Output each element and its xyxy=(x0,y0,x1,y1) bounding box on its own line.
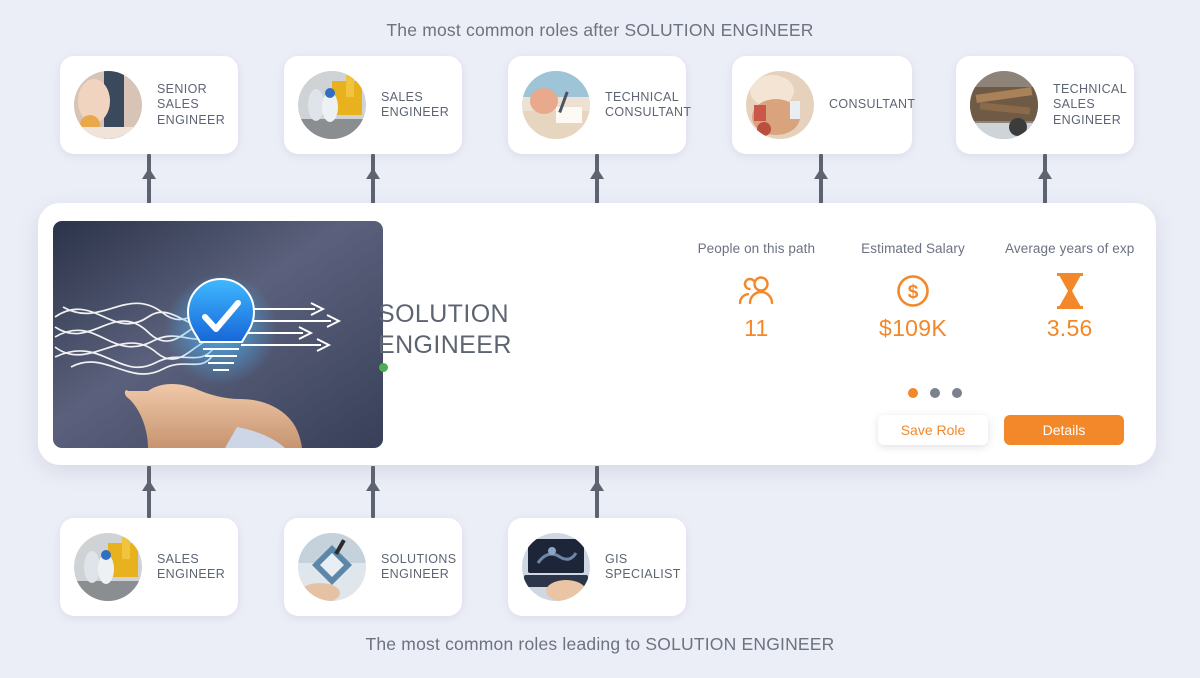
people-icon xyxy=(678,271,835,311)
role-card[interactable]: TECHNICAL CONSULTANT xyxy=(508,56,686,154)
role-card[interactable]: SENIOR SALES ENGINEER xyxy=(60,56,238,154)
role-card-label: SALES ENGINEER xyxy=(381,90,449,121)
role-thumb-technical-consultant xyxy=(522,71,590,139)
stat-3: Average years of exp3.56 xyxy=(991,241,1148,342)
connector-arrow-up xyxy=(142,154,156,206)
current-role-status-dot xyxy=(379,363,388,372)
previous-roles-row: SALES ENGINEERSOLUTIONS ENGINEERGIS SPEC… xyxy=(0,518,1200,616)
role-card-label: TECHNICAL SALES ENGINEER xyxy=(1053,82,1127,129)
connector-arrow-up xyxy=(366,154,380,206)
role-thumb-sales-engineer xyxy=(74,533,142,601)
role-card-label: TECHNICAL CONSULTANT xyxy=(605,90,691,121)
role-thumb-gis-specialist xyxy=(522,533,590,601)
stat-2: Estimated Salary$$109K xyxy=(835,241,992,342)
role-card[interactable]: GIS SPECIALIST xyxy=(508,518,686,616)
connector-arrow-up xyxy=(814,154,828,206)
role-card-label: SENIOR SALES ENGINEER xyxy=(157,82,238,129)
current-role-card[interactable]: SOLUTION ENGINEER People on this path11E… xyxy=(38,203,1156,465)
role-card[interactable]: CONSULTANT xyxy=(732,56,912,154)
save-role-button[interactable]: Save Role xyxy=(878,415,988,445)
stat-label: Average years of exp xyxy=(991,241,1148,256)
stat-label: People on this path xyxy=(678,241,835,256)
role-thumb-technical-sales-engineer xyxy=(970,71,1038,139)
role-thumb-solutions-engineer xyxy=(298,533,366,601)
next-roles-caption: The most common roles after SOLUTION ENG… xyxy=(0,20,1200,41)
stat-value: 3.56 xyxy=(991,315,1148,342)
current-role-actions: Save Role Details xyxy=(878,415,1124,445)
current-role-stats: People on this path11Estimated Salary$$1… xyxy=(678,241,1148,342)
role-card-label: GIS SPECIALIST xyxy=(605,552,681,583)
stat-1: People on this path11 xyxy=(678,241,835,342)
svg-text:$: $ xyxy=(908,282,919,303)
role-thumb-consultant xyxy=(746,71,814,139)
stat-label: Estimated Salary xyxy=(835,241,992,256)
role-card[interactable]: SALES ENGINEER xyxy=(284,56,462,154)
connector-arrow-up xyxy=(366,466,380,518)
connector-arrow-up xyxy=(590,154,604,206)
connector-arrow-up xyxy=(142,466,156,518)
role-card[interactable]: TECHNICAL SALES ENGINEER xyxy=(956,56,1134,154)
role-thumb-sales-engineer xyxy=(298,71,366,139)
next-roles-row: SENIOR SALES ENGINEERSALES ENGINEERTECHN… xyxy=(0,56,1200,154)
carousel-dot-2[interactable] xyxy=(930,388,940,398)
role-thumb-senior-sales-engineer xyxy=(74,71,142,139)
carousel-dot-1[interactable] xyxy=(908,388,918,398)
dollar-circle-icon: $ xyxy=(835,271,992,311)
stat-value: $109K xyxy=(835,315,992,342)
role-card-label: CONSULTANT xyxy=(829,97,915,113)
carousel-dot-3[interactable] xyxy=(952,388,962,398)
connector-arrow-up xyxy=(590,466,604,518)
stat-value: 11 xyxy=(678,315,835,342)
role-card-label: SOLUTIONS ENGINEER xyxy=(381,552,456,583)
details-button[interactable]: Details xyxy=(1004,415,1124,445)
role-card-label: SALES ENGINEER xyxy=(157,552,225,583)
role-card[interactable]: SOLUTIONS ENGINEER xyxy=(284,518,462,616)
previous-roles-caption: The most common roles leading to SOLUTIO… xyxy=(0,634,1200,655)
current-role-title: SOLUTION ENGINEER xyxy=(378,299,608,361)
current-role-hero-image xyxy=(53,221,383,448)
connector-arrow-up xyxy=(1038,154,1052,206)
carousel-pagination[interactable] xyxy=(908,388,962,398)
role-card[interactable]: SALES ENGINEER xyxy=(60,518,238,616)
hourglass-icon xyxy=(991,271,1148,311)
